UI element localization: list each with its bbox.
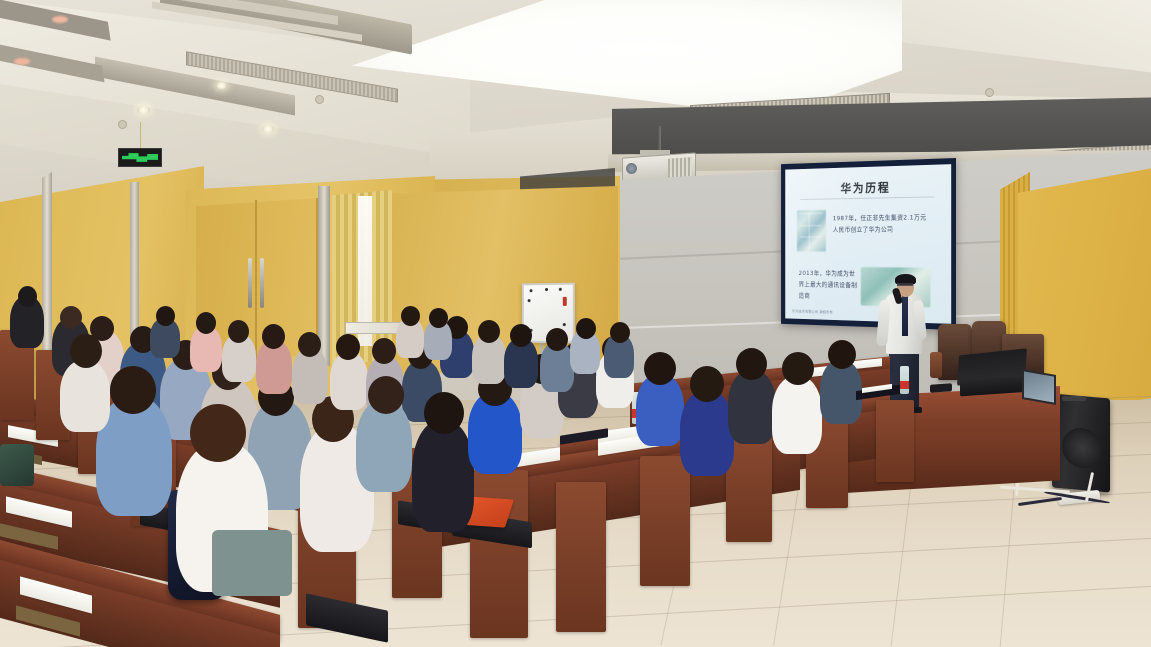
attendee-9-head (156, 306, 175, 326)
attendee-35-head (429, 308, 448, 328)
chair-center-4 (640, 456, 690, 586)
attendee-27-head (828, 340, 856, 369)
leather-chair-arm (930, 352, 942, 378)
attendee-26-head (782, 352, 814, 385)
attendee-30-head (510, 324, 532, 347)
projection-screen-surface: 华为历程 1987年，任正非先生集资2.1万元人民币创立了华为公司 2013年，… (785, 164, 951, 324)
attendee-38 (60, 360, 110, 432)
attendee-36-head (110, 366, 156, 414)
sprinkler-icon-3 (985, 88, 994, 97)
attendee-24-head (690, 366, 724, 402)
chair-center-2 (470, 470, 528, 638)
exit-sign (118, 148, 162, 167)
slide-text-block-1: 1987年，任正非先生集资2.1万元人民币创立了华为公司 (833, 212, 932, 236)
attendee-14-head (336, 334, 360, 360)
attendee-18 (412, 420, 474, 532)
chair-center-7 (876, 400, 914, 482)
attendee-17-head (368, 376, 404, 414)
secondary-monitor (1022, 369, 1056, 405)
attendee-37-lower (212, 530, 292, 596)
sprinkler-icon-2 (315, 95, 324, 104)
attendee-1-head (18, 286, 37, 307)
attendee-25 (728, 370, 776, 444)
water-bottle-3 (900, 366, 909, 394)
glasses-icon (897, 283, 913, 286)
downlight-2 (262, 125, 274, 133)
slide-title: 华为历程 (785, 177, 951, 197)
attendee-34-head (401, 306, 420, 326)
attendee-15-head (372, 338, 396, 364)
slide-title-rule (800, 196, 934, 200)
attendee-13-head (298, 332, 321, 357)
projector-vent (668, 157, 692, 178)
slide-photo-collage-1 (797, 210, 826, 252)
door-seam (255, 200, 257, 360)
ceiling-lamp-glow-2 (14, 58, 30, 65)
downlight-4 (216, 82, 227, 89)
attendee-26-white (772, 376, 822, 454)
projection-screen: 华为历程 1987年，任正非先生集资2.1万元人民币创立了华为公司 2013年，… (781, 158, 956, 330)
attendee-2-head (60, 306, 82, 329)
slide-text-block-2: 2013年，华为成为世界上最大的通讯设备制造商 (799, 268, 858, 303)
attendee-12-head (262, 324, 285, 349)
attendee-25-head (736, 348, 767, 380)
ceiling-lamp-glow (52, 16, 68, 23)
attendee-18-head (424, 392, 464, 434)
door-handle-left[interactable] (248, 258, 252, 308)
desk-remote[interactable] (930, 383, 952, 393)
attendee-37-head (190, 404, 246, 462)
exit-sign-wire (140, 122, 141, 150)
speaker-handle (1062, 396, 1086, 401)
attendee-10-head (196, 312, 216, 334)
attendee-33-head (610, 322, 630, 343)
slide-footer: 华为技术有限公司 版权所有 (792, 309, 833, 315)
door-handle-right[interactable] (260, 258, 264, 308)
sprinkler-icon (118, 120, 127, 129)
attendee-32-head (576, 318, 596, 339)
downlight-1 (137, 106, 150, 114)
bag-on-table-left (0, 444, 34, 486)
training-room-photo: 华为历程 1987年，任正非先生集资2.1万元人民币创立了华为公司 2013年，… (0, 0, 1151, 647)
attendee-23-head (644, 352, 676, 385)
chair-center-3 (556, 482, 606, 632)
attendee-31-head (546, 328, 568, 351)
attendee-11-head (228, 320, 249, 343)
exit-icon (122, 152, 158, 163)
attendee-14 (330, 352, 368, 410)
attendee-38-head (70, 334, 102, 368)
projector-lens (626, 163, 637, 174)
presenter-tie (902, 296, 908, 336)
attendee-24-hoodie (680, 390, 734, 476)
attendee-29-head (478, 320, 500, 343)
